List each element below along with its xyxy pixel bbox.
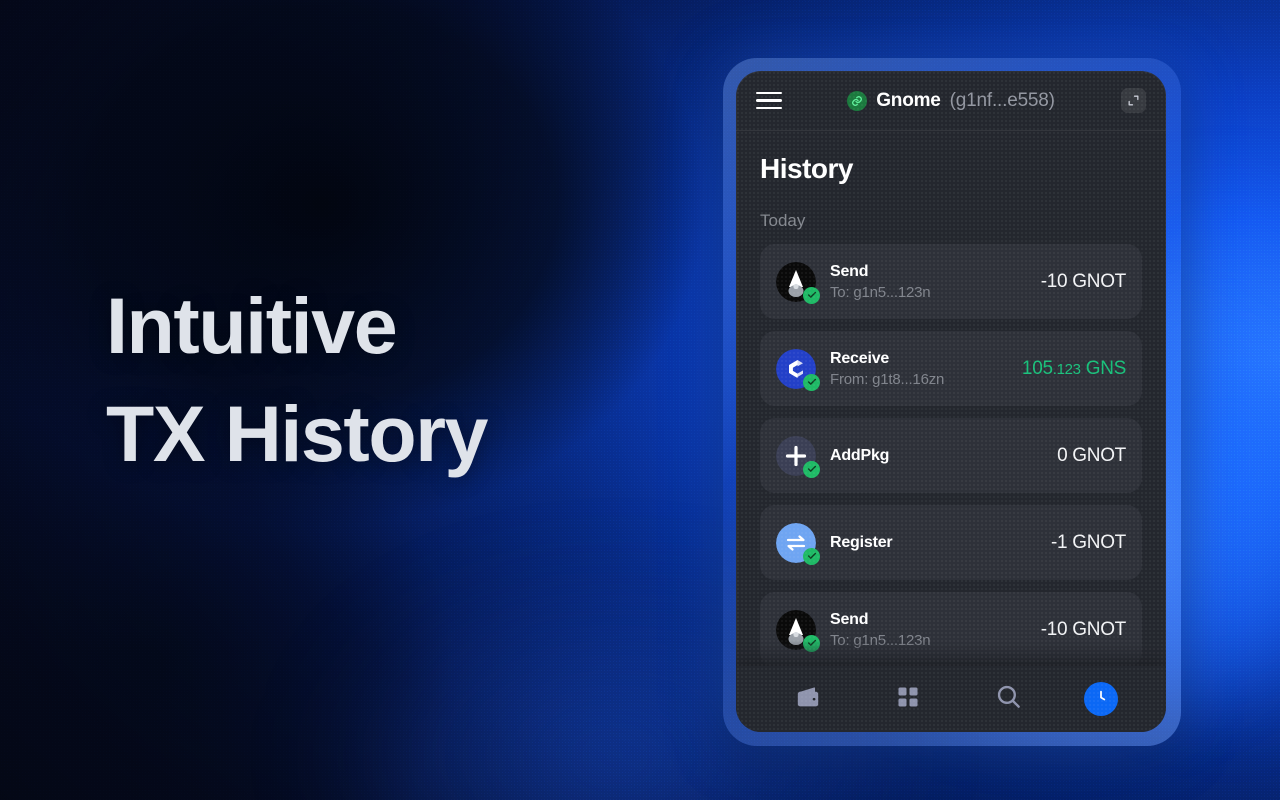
transaction-type: Register: [830, 534, 892, 552]
wallet-icon: [795, 684, 821, 715]
avatar: [776, 262, 816, 302]
transaction-list: Send To: g1n5...123n -10 GNOT: [760, 244, 1142, 667]
table-row[interactable]: AddPkg 0 GNOT: [760, 418, 1142, 493]
transaction-amount: -10 GNOT: [1041, 271, 1126, 293]
transaction-type: Receive: [830, 350, 944, 368]
transaction-info: Register: [830, 534, 892, 552]
transaction-info: Receive From: g1t8...16zn: [830, 350, 944, 388]
transaction-amount: -10 GNOT: [1041, 619, 1126, 641]
bottom-navigation-bar: [736, 666, 1166, 732]
day-group-label: Today: [760, 211, 1142, 231]
app-header: Gnome (g1nf...e558): [736, 71, 1166, 131]
nav-item-apps[interactable]: [884, 675, 932, 723]
transaction-type: AddPkg: [830, 447, 889, 465]
transaction-info: AddPkg: [830, 447, 889, 465]
avatar: [776, 349, 816, 389]
hero-headline-line-2: TX History: [106, 380, 726, 488]
history-content: History Today: [736, 131, 1166, 667]
table-row[interactable]: Send To: g1n5...123n -10 GNOT: [760, 244, 1142, 319]
hamburger-menu-icon[interactable]: [756, 92, 782, 110]
phone-screen: Gnome (g1nf...e558) History Today: [736, 71, 1166, 732]
check-success-icon: [803, 548, 820, 565]
check-success-icon: [803, 461, 820, 478]
hero-headline-line-1: Intuitive: [106, 281, 396, 370]
amount-integer: 105: [1022, 358, 1053, 379]
check-success-icon: [803, 287, 820, 304]
transaction-info: Send To: g1n5...123n: [830, 611, 930, 649]
amount-decimal: .123: [1053, 361, 1081, 378]
table-row[interactable]: Receive From: g1t8...16zn 105.123 GNS: [760, 331, 1142, 406]
nav-item-history[interactable]: [1084, 682, 1118, 716]
nav-item-wallet[interactable]: [784, 675, 832, 723]
transaction-counterparty: To: g1n5...123n: [830, 632, 930, 649]
search-icon: [995, 683, 1022, 715]
transaction-counterparty: To: g1n5...123n: [830, 284, 930, 301]
amount-suffix: GNS: [1081, 358, 1126, 379]
transaction-amount: 0 GNOT: [1057, 445, 1126, 467]
link-chain-icon: [847, 91, 867, 111]
expand-fullscreen-icon[interactable]: [1121, 88, 1146, 113]
wallet-title-group: Gnome (g1nf...e558): [736, 90, 1166, 112]
hero-headline: Intuitive TX History: [106, 272, 726, 488]
page-title: History: [760, 153, 1142, 185]
check-success-icon: [803, 635, 820, 652]
wallet-address: (g1nf...e558): [950, 90, 1055, 112]
table-row[interactable]: Register -1 GNOT: [760, 505, 1142, 580]
transaction-type: Send: [830, 263, 930, 281]
check-success-icon: [803, 374, 820, 391]
avatar: [776, 436, 816, 476]
avatar: [776, 523, 816, 563]
clock-history-icon: [1091, 687, 1111, 712]
transaction-info: Send To: g1n5...123n: [830, 263, 930, 301]
transaction-amount: 105.123 GNS: [1022, 358, 1126, 380]
wallet-name: Gnome: [876, 90, 940, 112]
phone-mockup-frame: Gnome (g1nf...e558) History Today: [723, 58, 1181, 746]
transaction-type: Send: [830, 611, 930, 629]
grid-apps-icon: [896, 685, 920, 714]
table-row[interactable]: Send To: g1n5...123n -10 GNOT: [760, 592, 1142, 667]
avatar: [776, 610, 816, 650]
nav-item-search[interactable]: [984, 675, 1032, 723]
transaction-counterparty: From: g1t8...16zn: [830, 371, 944, 388]
transaction-amount: -1 GNOT: [1051, 532, 1126, 554]
